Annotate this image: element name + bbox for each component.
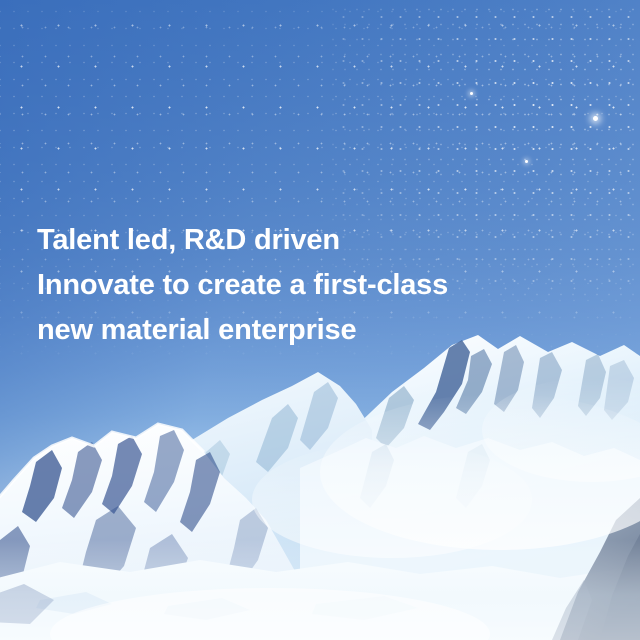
headline-line-2: Innovate to create a first-class bbox=[37, 263, 597, 308]
hero-banner: Talent led, R&D driven Innovate to creat… bbox=[0, 0, 640, 640]
headline-line-1: Talent led, R&D driven bbox=[37, 218, 597, 263]
headline-block: Talent led, R&D driven Innovate to creat… bbox=[37, 218, 597, 353]
headline-line-3: new material enterprise bbox=[37, 308, 597, 353]
